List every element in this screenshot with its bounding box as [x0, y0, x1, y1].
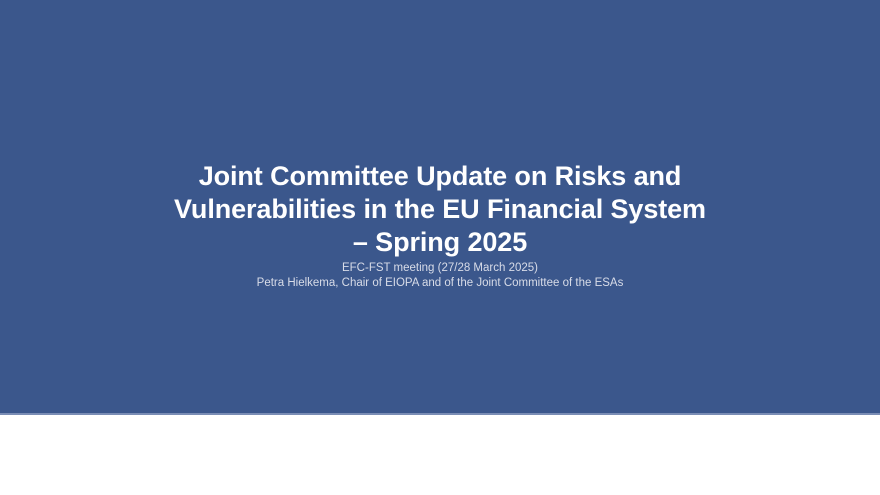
- page-title: Joint Committee Update on Risks and Vuln…: [0, 160, 880, 259]
- title-line-1: Joint Committee Update on Risks and: [0, 160, 880, 193]
- subtitle-meeting: EFC-FST meeting (27/28 March 2025): [0, 261, 880, 276]
- footer-logo-bar: eba European Banking Authority: [0, 415, 880, 495]
- page-subtitle: EFC-FST meeting (27/28 March 2025) Petra…: [0, 261, 880, 291]
- presentation-slide: Joint Committee Update on Risks and Vuln…: [0, 0, 880, 495]
- subtitle-presenter: Petra Hielkema, Chair of EIOPA and of th…: [0, 276, 880, 291]
- title-line-3: – Spring 2025: [0, 226, 880, 259]
- title-line-2: Vulnerabilities in the EU Financial Syst…: [0, 193, 880, 226]
